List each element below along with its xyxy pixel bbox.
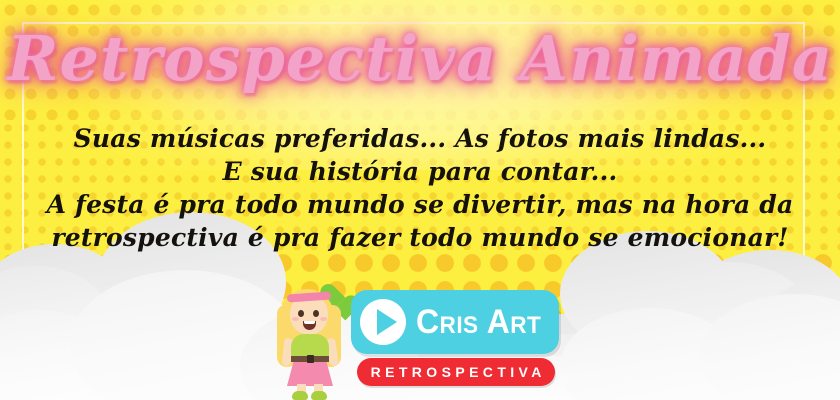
banner-title: Retrospectiva Animada	[0, 26, 840, 91]
logo-badge[interactable]: Cris Art	[351, 290, 559, 354]
play-icon[interactable]	[360, 299, 406, 345]
logo-tagline-text: RETROSPECTIVA	[366, 364, 546, 380]
shoe-left	[292, 391, 308, 400]
logo-brand-text: Cris Art	[416, 305, 541, 339]
blush-left	[292, 317, 299, 321]
body-line-3: A festa é pra todo mundo se divertir, ma…	[0, 188, 840, 221]
body-line-2: E sua história para contar...	[0, 155, 840, 188]
body-line-4: retrospectiva é pra fazer todo mundo se …	[0, 221, 840, 254]
play-triangle-icon	[377, 309, 397, 335]
retrospectiva-banner: Retrospectiva Animada Suas músicas prefe…	[0, 0, 840, 400]
skirt	[287, 362, 333, 386]
girl-character	[274, 283, 346, 400]
eye-right	[313, 310, 319, 317]
blush-right	[320, 317, 327, 321]
belt-buckle	[307, 355, 314, 363]
teeth	[304, 321, 315, 324]
banner-body-copy: Suas músicas preferidas... As fotos mais…	[0, 122, 840, 254]
body-line-1: Suas músicas preferidas... As fotos mais…	[0, 122, 840, 155]
shoe-right	[311, 391, 327, 400]
eye-left	[298, 310, 304, 317]
logo-tagline-badge: RETROSPECTIVA	[357, 358, 555, 386]
cris-art-logo[interactable]: Cris Art RETROSPECTIVA	[351, 290, 566, 394]
